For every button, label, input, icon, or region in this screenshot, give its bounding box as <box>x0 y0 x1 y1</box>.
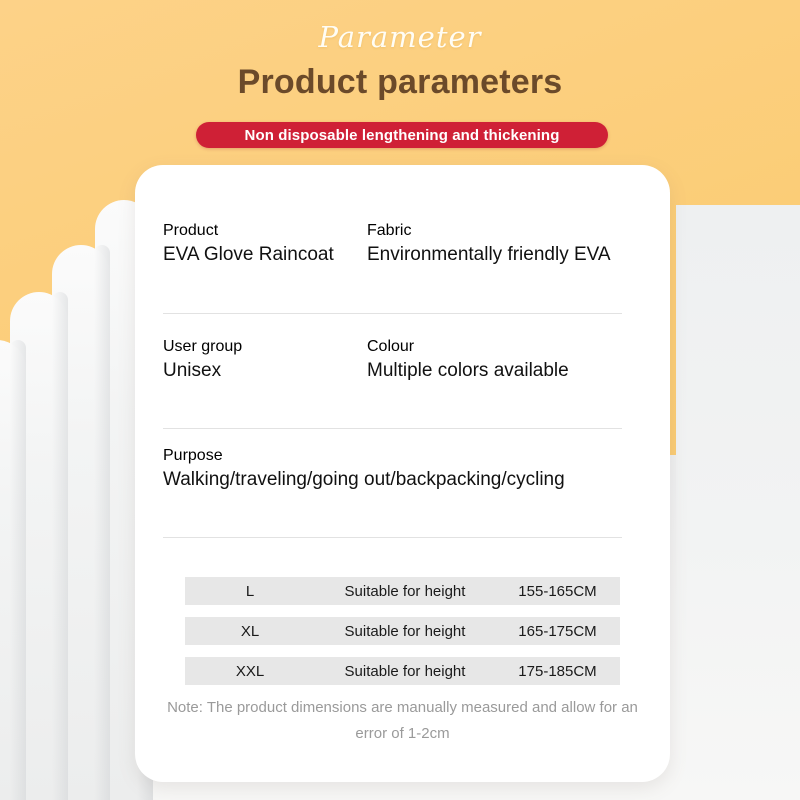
spec-label-row: Product Fabric <box>163 222 624 240</box>
spec-label-user-group: User group <box>163 338 367 356</box>
pale-right-panel <box>676 205 800 800</box>
spec-value-row: Unisex Multiple colors available <box>163 356 624 386</box>
spec-group-2: User group Colour Unisex Multiple colors… <box>163 338 624 386</box>
status-badge: Non disposable lengthening and thickenin… <box>196 122 608 148</box>
table-row: XXL Suitable for height 175-185CM <box>185 657 620 685</box>
cell-size: XXL <box>185 663 315 680</box>
spec-group-1: Product Fabric EVA Glove Raincoat Enviro… <box>163 222 624 270</box>
cell-height: 175-185CM <box>495 663 620 680</box>
cloud-shade <box>10 340 26 800</box>
spec-value-user-group: Unisex <box>163 356 367 386</box>
page-title: Product parameters <box>0 63 800 102</box>
size-table: L Suitable for height 155-165CM XL Suita… <box>185 577 620 697</box>
measurement-note: Note: The product dimensions are manuall… <box>155 695 650 747</box>
table-row: XL Suitable for height 165-175CM <box>185 617 620 645</box>
spec-value-purpose: Walking/traveling/going out/backpacking/… <box>163 465 624 495</box>
infographic-stage: Parameter Product parameters Non disposa… <box>0 0 800 800</box>
divider-1 <box>163 313 622 314</box>
cell-size: L <box>185 583 315 600</box>
spec-value-product: EVA Glove Raincoat <box>163 240 367 270</box>
cell-description: Suitable for height <box>315 623 495 640</box>
spec-label-row: Purpose <box>163 447 624 465</box>
cell-description: Suitable for height <box>315 583 495 600</box>
spec-value-row: Walking/traveling/going out/backpacking/… <box>163 465 624 495</box>
spec-value-row: EVA Glove Raincoat Environmentally frien… <box>163 240 624 270</box>
decorative-script-title: Parameter <box>0 20 800 54</box>
spec-label-row: User group Colour <box>163 338 624 356</box>
cloud-shade <box>52 292 68 800</box>
spec-label-colour: Colour <box>367 338 624 356</box>
cell-size: XL <box>185 623 315 640</box>
parameters-card: Product Fabric EVA Glove Raincoat Enviro… <box>135 165 670 782</box>
divider-3 <box>163 537 622 538</box>
cell-height: 165-175CM <box>495 623 620 640</box>
spec-value-fabric: Environmentally friendly EVA <box>367 240 624 270</box>
cell-height: 155-165CM <box>495 583 620 600</box>
spec-label-purpose: Purpose <box>163 447 624 465</box>
divider-2 <box>163 428 622 429</box>
cloud-step-4 <box>0 340 26 800</box>
table-row: L Suitable for height 155-165CM <box>185 577 620 605</box>
spec-label-product: Product <box>163 222 367 240</box>
cloud-shade <box>94 245 110 800</box>
spec-value-colour: Multiple colors available <box>367 356 624 386</box>
spec-group-3: Purpose Walking/traveling/going out/back… <box>163 447 624 495</box>
spec-label-fabric: Fabric <box>367 222 624 240</box>
cell-description: Suitable for height <box>315 663 495 680</box>
